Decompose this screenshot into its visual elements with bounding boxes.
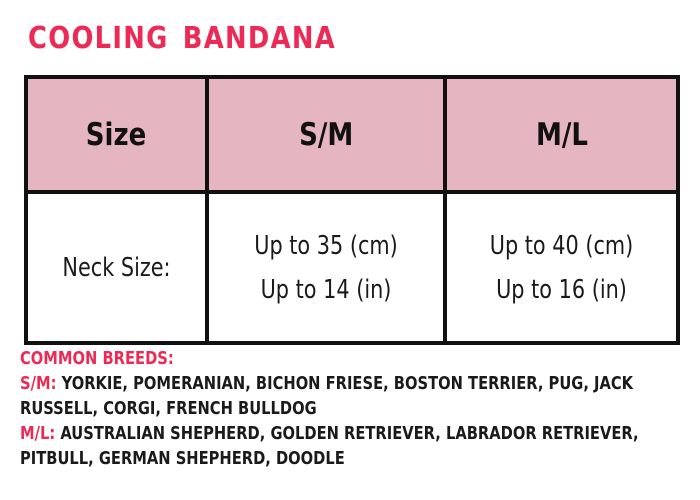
table-header-row: Size S/M M/L [26, 77, 678, 192]
header-label-size: Size [86, 117, 147, 153]
neck-size-label: Neck Size: [46, 246, 188, 290]
common-breeds-heading: COMMON BREEDS: [20, 347, 696, 372]
cell-ml-measurements: Up to 40 (cm) Up to 16 (in) [445, 192, 678, 343]
breeds-list-sm: YORKIE, POMERANIAN, BICHON FRIESE, BOSTO… [20, 374, 633, 419]
ml-measurement-in: Up to 16 (in) [470, 268, 653, 312]
sm-measurement-cm: Up to 35 (cm) [232, 224, 419, 268]
common-breeds-section: COMMON BREEDS: S/M: YORKIE, POMERANIAN, … [20, 347, 696, 472]
header-cell-sm: S/M [207, 77, 445, 192]
breeds-entry-ml: M/L: AUSTRALIAN SHEPHERD, GOLDEN RETRIEV… [20, 422, 696, 472]
breeds-list-ml: AUSTRALIAN SHEPHERD, GOLDEN RETRIEVER, L… [20, 424, 639, 469]
sm-measurement-in: Up to 14 (in) [232, 268, 419, 312]
breeds-label-sm: S/M: [20, 374, 56, 394]
header-cell-ml: M/L [445, 77, 678, 192]
breeds-entry-sm: S/M: YORKIE, POMERANIAN, BICHON FRIESE, … [20, 372, 696, 422]
cell-sm-measurements: Up to 35 (cm) Up to 14 (in) [207, 192, 445, 343]
page-title: Cooling Bandana [28, 8, 336, 60]
breeds-label-ml: M/L: [20, 424, 55, 444]
size-chart-table: Size S/M M/L Neck Size: Up to 35 (cm) Up… [24, 75, 680, 345]
table-row: Neck Size: Up to 35 (cm) Up to 14 (in) U… [26, 192, 678, 343]
header-cell-size: Size [26, 77, 207, 192]
header-label-ml: M/L [535, 117, 587, 153]
ml-measurement-cm: Up to 40 (cm) [470, 224, 653, 268]
header-label-sm: S/M [299, 117, 353, 153]
cell-row-label: Neck Size: [26, 192, 207, 343]
